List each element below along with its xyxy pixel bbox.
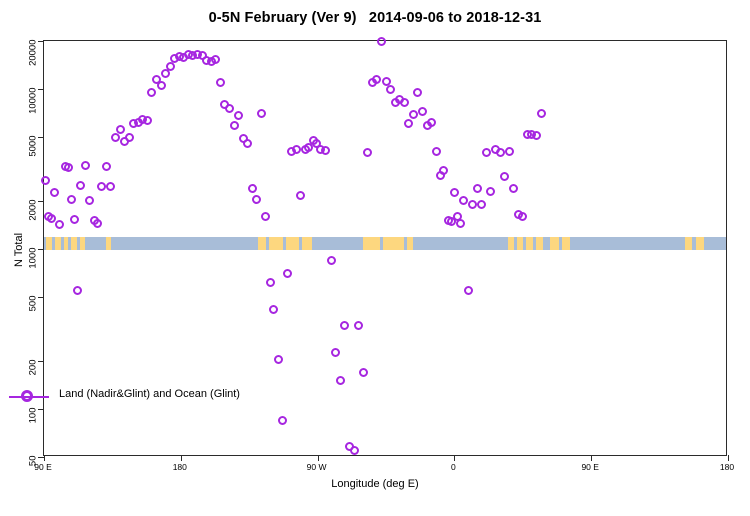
scatter-point <box>248 184 257 193</box>
scatter-point <box>97 182 106 191</box>
scatter-point <box>377 37 386 46</box>
scatter-point <box>439 166 448 175</box>
x-tick-label: 90 E <box>13 462 73 472</box>
scatter-point <box>359 368 368 377</box>
x-tick <box>181 455 182 461</box>
land-segment <box>526 237 534 250</box>
land-segment <box>685 237 691 250</box>
scatter-point <box>473 184 482 193</box>
x-tick <box>454 455 455 461</box>
scatter-point <box>106 182 115 191</box>
x-tick-label: 90 W <box>287 462 347 472</box>
scatter-point <box>211 55 220 64</box>
scatter-point <box>102 162 111 171</box>
land-segment <box>269 237 283 250</box>
land-segment <box>302 237 311 250</box>
legend-label: Land (Nadir&Glint) and Ocean (Glint) <box>59 388 240 400</box>
scatter-point <box>111 133 120 142</box>
scatter-point <box>147 88 156 97</box>
scatter-point <box>321 146 330 155</box>
scatter-point <box>532 131 541 140</box>
scatter-point <box>81 161 90 170</box>
scatter-point <box>336 376 345 385</box>
scatter-point <box>327 256 336 265</box>
scatter-point <box>76 181 85 190</box>
scatter-point <box>456 219 465 228</box>
scatter-point <box>55 220 64 229</box>
y-tick-label: 2000 <box>28 199 39 259</box>
scatter-point <box>116 125 125 134</box>
scatter-point <box>50 188 59 197</box>
land-segment <box>286 237 300 250</box>
land-segment <box>46 237 52 250</box>
x-axis-title: Longitude (deg E) <box>0 478 750 490</box>
scatter-point <box>283 269 292 278</box>
y-tick <box>38 361 44 362</box>
scatter-point <box>157 81 166 90</box>
scatter-point <box>252 195 261 204</box>
land-segment <box>696 237 704 250</box>
scatter-point <box>166 62 175 71</box>
land-segment <box>550 237 559 250</box>
y-tick <box>38 41 44 42</box>
scatter-point <box>64 163 73 172</box>
x-tick <box>44 455 45 461</box>
y-tick <box>38 137 44 138</box>
scatter-point <box>269 305 278 314</box>
land-segment <box>536 237 542 250</box>
x-tick <box>591 455 592 461</box>
y-tick <box>38 249 44 250</box>
scatter-point <box>450 188 459 197</box>
scatter-point <box>292 145 301 154</box>
scatter-point <box>459 196 468 205</box>
land-segment <box>407 237 413 250</box>
scatter-point <box>41 176 50 185</box>
scatter-point <box>216 78 225 87</box>
land-segment <box>64 237 69 250</box>
land-segment <box>562 237 570 250</box>
scatter-point <box>537 109 546 118</box>
land-segment <box>258 237 266 250</box>
scatter-point <box>73 286 82 295</box>
chart-root: 0-5N February (Ver 9) 2014-09-06 to 2018… <box>0 0 750 500</box>
scatter-point <box>386 85 395 94</box>
scatter-point <box>67 195 76 204</box>
scatter-point <box>518 212 527 221</box>
y-tick <box>38 201 44 202</box>
y-tick <box>38 297 44 298</box>
scatter-point <box>372 75 381 84</box>
y-tick <box>38 409 44 410</box>
scatter-point <box>85 196 94 205</box>
scatter-point <box>125 133 134 142</box>
land-segment <box>517 237 523 250</box>
scatter-point <box>234 111 243 120</box>
scatter-point <box>257 109 266 118</box>
scatter-point <box>354 321 363 330</box>
x-tick-label: 0 <box>423 462 483 472</box>
x-tick-label: 90 E <box>560 462 620 472</box>
scatter-point <box>505 147 514 156</box>
scatter-point <box>482 148 491 157</box>
scatter-point <box>93 219 102 228</box>
y-tick <box>38 89 44 90</box>
land-segment <box>55 237 61 250</box>
x-tick <box>318 455 319 461</box>
land-segment <box>383 237 404 250</box>
scatter-point <box>400 98 409 107</box>
y-axis-title: N Total <box>13 233 25 267</box>
land-ocean-mask-band <box>44 237 726 250</box>
scatter-point <box>464 286 473 295</box>
scatter-point <box>500 172 509 181</box>
scatter-point <box>486 187 495 196</box>
scatter-point <box>70 215 79 224</box>
scatter-point <box>509 184 518 193</box>
land-segment <box>508 237 514 250</box>
scatter-point <box>225 104 234 113</box>
scatter-point <box>340 321 349 330</box>
scatter-point <box>350 446 359 455</box>
scatter-point <box>143 116 152 125</box>
scatter-point <box>296 191 305 200</box>
scatter-point <box>331 348 340 357</box>
scatter-point <box>413 88 422 97</box>
x-tick <box>728 455 729 461</box>
scatter-point <box>243 139 252 148</box>
scatter-point <box>261 212 270 221</box>
scatter-point <box>477 200 486 209</box>
scatter-point <box>409 110 418 119</box>
scatter-point <box>274 355 283 364</box>
land-segment <box>363 237 380 250</box>
land-segment <box>80 237 85 250</box>
scatter-point <box>266 278 275 287</box>
scatter-point <box>432 147 441 156</box>
scatter-point <box>418 107 427 116</box>
x-tick-label: 180 <box>150 462 210 472</box>
legend: Land (Nadir&Glint) and Ocean (Glint) <box>1 385 301 409</box>
scatter-point <box>427 118 436 127</box>
scatter-point <box>278 416 287 425</box>
scatter-point <box>496 148 505 157</box>
x-tick-label: 180 <box>697 462 750 472</box>
land-segment <box>106 237 111 250</box>
scatter-point <box>230 121 239 130</box>
scatter-point <box>404 119 413 128</box>
scatter-point <box>468 200 477 209</box>
y-tick-label: 20000 <box>28 40 39 100</box>
scatter-point <box>363 148 372 157</box>
chart-title: 0-5N February (Ver 9) 2014-09-06 to 2018… <box>0 10 750 26</box>
land-segment <box>71 237 77 250</box>
legend-marker-icon <box>21 390 33 402</box>
